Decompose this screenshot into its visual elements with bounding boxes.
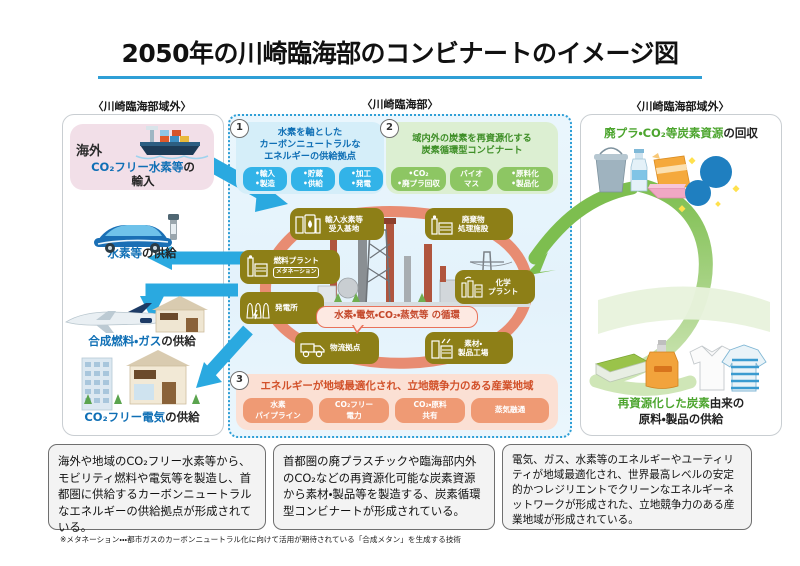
hydrogen-supply-suffix: の供給 (142, 246, 177, 260)
summary-box-1: 海外や地域のCO₂フリー水素等から、モビリティ燃料や電気等を製造し、首都圏に供給… (48, 444, 266, 530)
summary-box-2: 首都圏の廃プラスチックや臨海部内外のCO₂などの再資源化可能な炭素資源から素材・… (273, 444, 495, 530)
facility-label: 素材・ 製品工場 (458, 339, 488, 358)
infographic-page: 2050年の川崎臨海部のコンビナートのイメージ図 〈川崎臨海部域外〉 〈川崎臨海… (0, 0, 800, 566)
tag-line-1: 蒸気融通 (495, 405, 525, 415)
fuel-supply-caption: 合成燃料・ガスの供給 (60, 333, 224, 349)
facility-line-2: 受入基地 (329, 224, 359, 233)
theme-title-2-line1: 域内外の炭素を再資源化する (412, 133, 531, 144)
truck-icon (300, 338, 326, 358)
facility-line-2: 処理施設 (458, 224, 488, 233)
theme-3-tag-2[interactable]: CO₂フリー 電力 (319, 398, 389, 423)
import-caption: CO₂フリー水素等の 輸入 (68, 160, 218, 189)
methanation-tag: メタネーション (273, 267, 319, 277)
theme-title-1-line1: 水素を軸とした (278, 127, 342, 138)
import-suffix: の (183, 160, 195, 174)
theme-title-3: エネルギーが地域最適化され、立地競争力のある産業地域 (240, 380, 554, 394)
carbon-recovery-suffix: の回収 (723, 126, 758, 140)
facility-line-2: 製品工場 (458, 348, 488, 357)
facility-waste-treatment[interactable]: 廃棄物 処理施設 (425, 208, 513, 240)
recycled-supply-line2: 原料・製品の供給 (639, 412, 723, 426)
theme-2-tag-3[interactable]: 原料化 製品化 (497, 167, 553, 191)
plant-icon (245, 255, 269, 279)
overseas-label: 海外 (76, 140, 102, 159)
facility-line-1: 廃棄物 (462, 215, 485, 224)
tag-line-1: 貯蔵 (303, 169, 323, 179)
hydrogen-supply-caption: 水素等の供給 (64, 245, 220, 261)
title-divider (98, 76, 702, 79)
facility-material-product-factory[interactable]: 素材・ 製品工場 (425, 332, 513, 364)
tag-line-1: 加工 (351, 169, 371, 179)
waste-facility-icon (430, 213, 454, 235)
facility-label: 輸入水素等 受入基地 (325, 215, 363, 234)
tag-line-2: 製造 (255, 179, 275, 189)
chemical-plant-icon (460, 275, 484, 299)
tag-line-2: 供給 (303, 179, 323, 189)
theme-title-1-line3: エネルギーの供給拠点 (264, 151, 356, 162)
electricity-supply-main: CO₂フリー電気 (84, 410, 165, 424)
theme-1-tag-3[interactable]: 加工 発電 (339, 167, 383, 191)
carbon-recovery-main: 廃プラ・CO₂等炭素資源 (604, 126, 723, 140)
tag-line-2: 発電 (351, 179, 371, 189)
facility-logistics-hub[interactable]: 物流拠点 (295, 332, 379, 364)
tag-line-2: 廃プラ回収 (397, 179, 440, 189)
tag-line-1: 輸入 (255, 169, 275, 179)
theme-2-tag-1[interactable]: CO₂ 廃プラ回収 (391, 167, 446, 191)
power-plant-icon (245, 297, 271, 319)
theme-title-2: 域内外の炭素を再資源化する 炭素循環型コンビナート (390, 133, 554, 157)
carbon-recovery-caption: 廃プラ・CO₂等炭素資源の回収 (586, 126, 776, 141)
facility-power-plant[interactable]: 発電所 (240, 292, 324, 324)
import-main: CO₂フリー水素等 (91, 160, 183, 174)
electricity-supply-suffix: の供給 (165, 410, 200, 424)
import-line2: 輸入 (132, 174, 155, 188)
recycled-supply-caption: 再資源化した炭素由来の 原料・製品の供給 (586, 396, 776, 427)
hydrogen-supply-main: 水素等 (108, 246, 143, 260)
facility-label: 燃料プラント メタネーション (273, 256, 319, 277)
theme-title-1: 水素を軸とした カーボンニュートラルな エネルギーの供給拠点 (240, 127, 380, 163)
theme-1-tag-1[interactable]: 輸入 製造 (243, 167, 287, 191)
theme-3-tag-4[interactable]: 蒸気融通 (471, 398, 549, 423)
callout-tail-inner (353, 324, 363, 331)
tag-line-1: CO₂ (408, 169, 428, 179)
outside-region-right-panel (580, 114, 782, 436)
facility-line-1: 輸入水素等 (325, 215, 363, 224)
footnote: ※メタネーション・・・都市ガスのカーボンニュートラル化に向けて活用が期待されてい… (60, 534, 560, 545)
region-caption-right: 〈川崎臨海部域外〉 (580, 98, 780, 114)
factory-icon (430, 337, 454, 359)
facility-line-1: 素材・ (464, 339, 482, 348)
fuel-supply-main: 合成燃料・ガス (88, 334, 161, 348)
theme-3-tag-3[interactable]: CO₂・原料 共有 (395, 398, 465, 423)
tag-line-2: 電力 (346, 411, 361, 421)
storage-tank-icon (295, 213, 321, 235)
summary-box-3: 電気、ガス、水素等のエネルギーやユーティリティが地域最適化され、世界最高レベルの… (502, 444, 752, 530)
circulation-callout: 水素・電気・CO₂・蒸気等 の循環 (316, 306, 478, 328)
theme-1-tag-2[interactable]: 貯蔵 供給 (291, 167, 335, 191)
facility-label: 発電所 (275, 303, 298, 312)
theme-title-2-line2: 炭素循環型コンビナート (421, 145, 522, 156)
tag-line-2: 共有 (422, 411, 437, 421)
tag-line-1: CO₂・原料 (413, 400, 446, 410)
tag-line-1: CO₂フリー (335, 400, 373, 410)
tag-line-1: 水素 (270, 400, 285, 410)
theme-2-tag-2[interactable]: バイオ マス (450, 167, 493, 191)
recycled-supply-main: 再資源化した炭素 (618, 396, 710, 410)
electricity-supply-caption: CO₂フリー電気の供給 (60, 409, 224, 425)
facility-label: 化学 プラント (488, 278, 518, 297)
tag-line-1: バイオ (460, 169, 483, 179)
tag-line-2: マス (464, 179, 479, 189)
facility-label: 物流拠点 (330, 343, 360, 352)
facility-line-1: 燃料プラント (273, 256, 319, 265)
recycled-supply-suffix: 由来の (710, 396, 745, 410)
tag-line-2: パイプライン (255, 411, 301, 421)
facility-fuel-plant[interactable]: 燃料プラント メタネーション (240, 250, 340, 284)
region-caption-middle: 〈川崎臨海部〉 (300, 96, 500, 112)
facility-label: 廃棄物 処理施設 (458, 215, 488, 234)
facility-line-1: 化学 (496, 278, 511, 287)
tag-line-1: 原料化 (511, 169, 539, 179)
theme-title-1-line2: カーボンニュートラルな (259, 139, 360, 150)
region-caption-left: 〈川崎臨海部域外〉 (62, 98, 222, 114)
tag-line-2: 製品化 (511, 179, 539, 189)
facility-import-hydrogen-terminal[interactable]: 輸入水素等 受入基地 (290, 208, 384, 240)
theme-3-tag-1[interactable]: 水素 パイプライン (243, 398, 313, 423)
page-title: 2050年の川崎臨海部のコンビナートのイメージ図 (0, 34, 800, 70)
facility-line-2: プラント (488, 287, 518, 296)
facility-chemical-plant[interactable]: 化学 プラント (455, 270, 535, 304)
fuel-supply-suffix: の供給 (161, 334, 196, 348)
